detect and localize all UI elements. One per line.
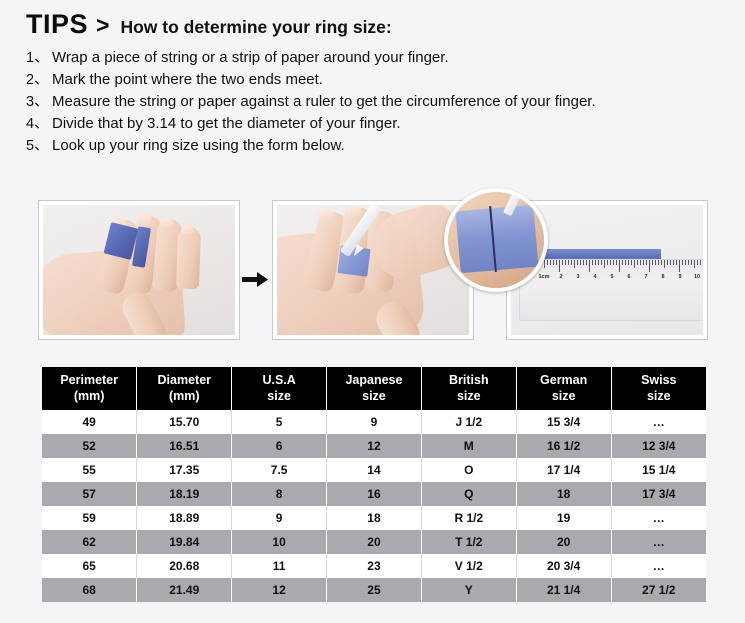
cell-diameter: 20.68 bbox=[137, 554, 232, 578]
table-row: 52 16.51 6 12 M 16 1/2 12 3/4 bbox=[42, 434, 706, 458]
cell-perimeter: 65 bbox=[42, 554, 137, 578]
cell-swiss: 15 1/4 bbox=[611, 458, 706, 482]
cell-diameter: 16.51 bbox=[137, 434, 232, 458]
list-item-number: 4、 bbox=[26, 112, 52, 133]
cell-german: 19 bbox=[516, 506, 611, 530]
list-item-number: 1、 bbox=[26, 46, 52, 67]
list-item: 2、 Mark the point where the two ends mee… bbox=[26, 68, 716, 90]
fingernail bbox=[160, 217, 173, 228]
list-item-number: 3、 bbox=[26, 90, 52, 111]
cell-perimeter: 57 bbox=[42, 482, 137, 506]
instruction-list: 1、 Wrap a piece of string or a strip of … bbox=[26, 46, 716, 156]
ring-size-table: Perimeter (mm) Diameter (mm) U.S.A size … bbox=[42, 367, 706, 602]
page-title: TIPS > How to determine your ring size: bbox=[26, 9, 392, 40]
table-header-row: Perimeter (mm) Diameter (mm) U.S.A size … bbox=[42, 367, 706, 410]
cell-usa: 7.5 bbox=[232, 458, 327, 482]
table-row: 65 20.68 11 23 V 1/2 20 3/4 … bbox=[42, 554, 706, 578]
list-item-label: Mark the point where the two ends meet. bbox=[52, 71, 323, 88]
column-header-british-size: British size bbox=[421, 367, 516, 410]
column-header-line1: Swiss bbox=[641, 373, 676, 387]
table-row: 68 21.49 12 25 Y 21 1/4 27 1/2 bbox=[42, 578, 706, 602]
cell-japanese: 16 bbox=[327, 482, 422, 506]
column-header-line2: (mm) bbox=[169, 389, 200, 403]
step-photo-2 bbox=[272, 200, 474, 340]
finger-shape bbox=[176, 227, 201, 290]
ruler: 0 1cm 2 3 4 5 6 7 8 9 10 bbox=[519, 259, 703, 321]
column-header-german-size: German size bbox=[516, 367, 611, 410]
cell-british: T 1/2 bbox=[421, 530, 516, 554]
cell-perimeter: 49 bbox=[42, 410, 137, 434]
page-subtitle: How to determine your ring size: bbox=[120, 17, 391, 38]
column-header-line2: size bbox=[647, 389, 671, 403]
list-item-label: Divide that by 3.14 to get the diameter … bbox=[52, 115, 401, 132]
cell-japanese: 23 bbox=[327, 554, 422, 578]
cell-german: 20 bbox=[516, 530, 611, 554]
list-item: 3、 Measure the string or paper against a… bbox=[26, 90, 716, 112]
cell-japanese: 25 bbox=[327, 578, 422, 602]
column-header-line2: (mm) bbox=[74, 389, 105, 403]
fingernail bbox=[137, 213, 151, 225]
cell-perimeter: 68 bbox=[42, 578, 137, 602]
cell-diameter: 17.35 bbox=[137, 458, 232, 482]
column-header-swiss-size: Swiss size bbox=[611, 367, 706, 410]
arrow-right-icon bbox=[240, 268, 270, 290]
column-header-line1: Diameter bbox=[158, 373, 212, 387]
fingernail bbox=[181, 225, 193, 235]
photo-marking-strip bbox=[277, 205, 469, 335]
column-header-usa-size: U.S.A size bbox=[232, 367, 327, 410]
cell-usa: 12 bbox=[232, 578, 327, 602]
cell-british: J 1/2 bbox=[421, 410, 516, 434]
cell-usa: 8 bbox=[232, 482, 327, 506]
cell-japanese: 20 bbox=[327, 530, 422, 554]
ruler-label: 7 bbox=[644, 274, 647, 280]
tips-label: TIPS bbox=[26, 9, 88, 40]
photo-hand-with-strip bbox=[43, 205, 235, 335]
cell-swiss: … bbox=[611, 530, 706, 554]
list-item-label: Look up your ring size using the form be… bbox=[52, 137, 345, 154]
cell-perimeter: 62 bbox=[42, 530, 137, 554]
cell-usa: 6 bbox=[232, 434, 327, 458]
table-row: 59 18.89 9 18 R 1/2 19 … bbox=[42, 506, 706, 530]
cell-swiss: … bbox=[611, 506, 706, 530]
cell-japanese: 18 bbox=[327, 506, 422, 530]
cell-perimeter: 59 bbox=[42, 506, 137, 530]
table-row: 57 18.19 8 16 Q 18 17 3/4 bbox=[42, 482, 706, 506]
cell-german: 20 3/4 bbox=[516, 554, 611, 578]
cell-diameter: 18.19 bbox=[137, 482, 232, 506]
column-header-line2: size bbox=[552, 389, 576, 403]
column-header-japanese-size: Japanese size bbox=[327, 367, 422, 410]
cell-usa: 5 bbox=[232, 410, 327, 434]
cell-japanese: 14 bbox=[327, 458, 422, 482]
illustration-strip: 0 1cm 2 3 4 5 6 7 8 9 10 bbox=[0, 196, 745, 344]
column-header-diameter: Diameter (mm) bbox=[137, 367, 232, 410]
cell-swiss: … bbox=[611, 554, 706, 578]
column-header-line1: Japanese bbox=[345, 373, 402, 387]
column-header-line2: size bbox=[267, 389, 291, 403]
cell-german: 16 1/2 bbox=[516, 434, 611, 458]
ruler-label: 9 bbox=[678, 274, 681, 280]
cell-usa: 9 bbox=[232, 506, 327, 530]
ruler-label: 4 bbox=[593, 274, 596, 280]
ruler-label: 5 bbox=[610, 274, 613, 280]
list-item-number: 2、 bbox=[26, 68, 52, 89]
column-header-line1: German bbox=[540, 373, 587, 387]
cell-british: R 1/2 bbox=[421, 506, 516, 530]
magnifier-strip bbox=[455, 205, 538, 274]
ruler-label: 8 bbox=[661, 274, 664, 280]
list-item-label: Measure the string or paper against a ru… bbox=[52, 93, 596, 110]
cell-swiss: … bbox=[611, 410, 706, 434]
list-item-label: Wrap a piece of string or a strip of pap… bbox=[52, 49, 449, 66]
cell-japanese: 12 bbox=[327, 434, 422, 458]
cell-british: Y bbox=[421, 578, 516, 602]
cell-swiss: 12 3/4 bbox=[611, 434, 706, 458]
cell-diameter: 19.84 bbox=[137, 530, 232, 554]
column-header-line1: U.S.A bbox=[262, 373, 295, 387]
cell-german: 21 1/4 bbox=[516, 578, 611, 602]
cell-usa: 11 bbox=[232, 554, 327, 578]
ruler-label: 3 bbox=[576, 274, 579, 280]
ruler-label: 6 bbox=[627, 274, 630, 280]
step-photo-1 bbox=[38, 200, 240, 340]
column-header-line2: size bbox=[362, 389, 386, 403]
cell-german: 15 3/4 bbox=[516, 410, 611, 434]
ruler-label: 2 bbox=[559, 274, 562, 280]
cell-british: Q bbox=[421, 482, 516, 506]
list-item: 4、 Divide that by 3.14 to get the diamet… bbox=[26, 112, 716, 134]
ring-size-guide-page: TIPS > How to determine your ring size: … bbox=[0, 0, 745, 623]
cell-diameter: 15.70 bbox=[137, 410, 232, 434]
fingernail bbox=[346, 205, 361, 217]
cell-japanese: 9 bbox=[327, 410, 422, 434]
cell-german: 18 bbox=[516, 482, 611, 506]
table-row: 49 15.70 5 9 J 1/2 15 3/4 … bbox=[42, 410, 706, 434]
fingernail bbox=[318, 209, 333, 221]
cell-british: M bbox=[421, 434, 516, 458]
cell-british: V 1/2 bbox=[421, 554, 516, 578]
table-row: 62 19.84 10 20 T 1/2 20 … bbox=[42, 530, 706, 554]
magnifier-inset bbox=[444, 188, 548, 292]
cell-swiss: 27 1/2 bbox=[611, 578, 706, 602]
cell-diameter: 18.89 bbox=[137, 506, 232, 530]
tips-chevron-icon: > bbox=[96, 12, 109, 39]
cell-usa: 10 bbox=[232, 530, 327, 554]
column-header-line1: Perimeter bbox=[60, 373, 118, 387]
cell-diameter: 21.49 bbox=[137, 578, 232, 602]
list-item-number: 5、 bbox=[26, 134, 52, 155]
cell-perimeter: 52 bbox=[42, 434, 137, 458]
cell-german: 17 1/4 bbox=[516, 458, 611, 482]
cell-swiss: 17 3/4 bbox=[611, 482, 706, 506]
list-item: 1、 Wrap a piece of string or a strip of … bbox=[26, 46, 716, 68]
column-header-line2: size bbox=[457, 389, 481, 403]
column-header-perimeter: Perimeter (mm) bbox=[42, 367, 137, 410]
table-row: 55 17.35 7.5 14 O 17 1/4 15 1/4 bbox=[42, 458, 706, 482]
column-header-line1: British bbox=[449, 373, 489, 387]
cell-perimeter: 55 bbox=[42, 458, 137, 482]
ruler-label: 10 bbox=[694, 274, 700, 280]
list-item: 5、 Look up your ring size using the form… bbox=[26, 134, 716, 156]
cell-british: O bbox=[421, 458, 516, 482]
